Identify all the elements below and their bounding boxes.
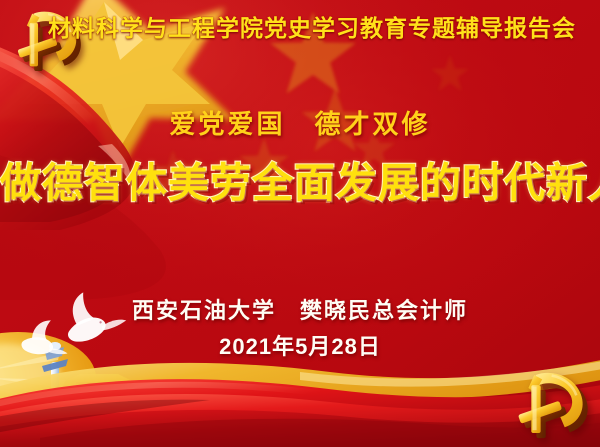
background-decoration-layer — [0, 0, 600, 447]
speaker-line: 西安石油大学 樊晓民总会计师 — [0, 300, 600, 322]
poster-subtitle: 爱党爱国 德才双修 — [0, 112, 600, 138]
poster-main-title: 做德智体美劳全面发展的时代新人 — [0, 163, 600, 204]
event-date: 2021年5月28日 — [0, 336, 600, 358]
poster-banner: 材料科学与工程学院党史学习教育专题辅导报告会 爱党爱国 德才双修 做德智体美劳全… — [0, 0, 600, 447]
header-title: 材料科学与工程学院党史学习教育专题辅导报告会 — [32, 17, 592, 40]
